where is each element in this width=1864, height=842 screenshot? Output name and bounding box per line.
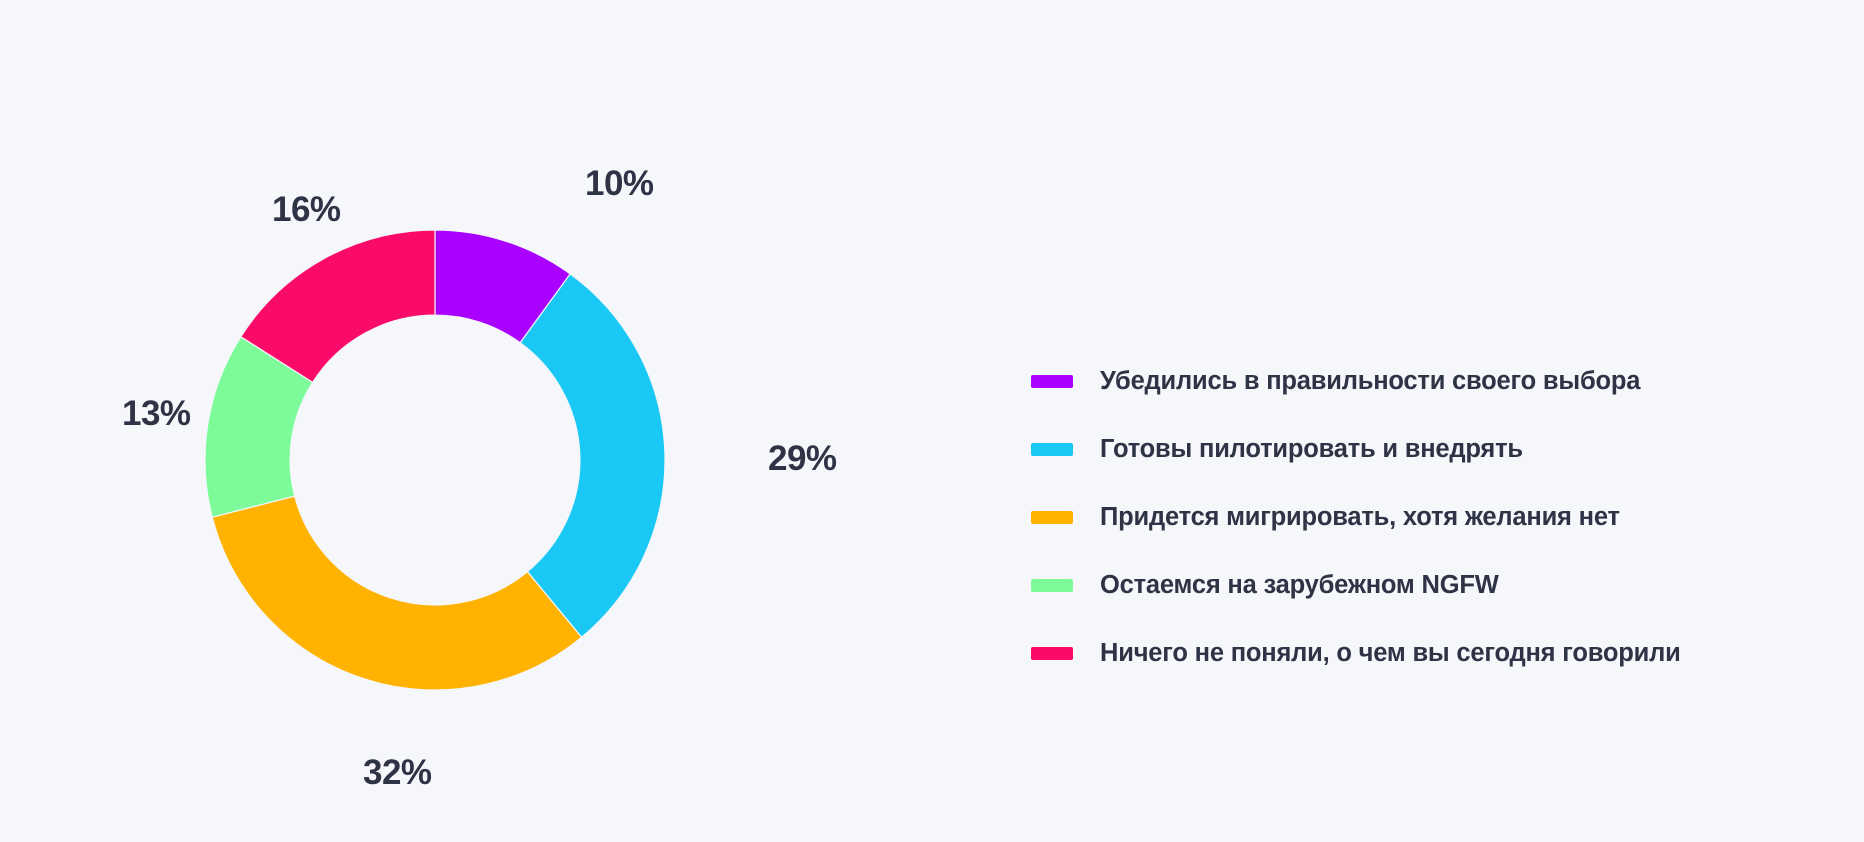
legend-item-label-4: Ничего не поняли, о чем вы сегодня говор…: [1100, 639, 1681, 668]
legend-item-0[interactable]: Убедились в правильности своего выбора: [1031, 347, 1731, 415]
legend-item-1[interactable]: Готовы пилотировать и внедрять: [1031, 415, 1731, 483]
legend-swatch-icon-2: [1031, 511, 1073, 524]
donut-slice-2[interactable]: [212, 496, 581, 690]
legend-item-label-0: Убедились в правильности своего выбора: [1100, 367, 1640, 396]
legend-swatch-icon-0: [1031, 375, 1073, 388]
legend-swatch-icon-3: [1031, 579, 1073, 592]
slice-data-label-0: 10%: [585, 166, 654, 201]
slice-data-label-2: 32%: [363, 755, 432, 790]
chart-page: 10% 29% 32% 13% 16% Убедились в правильн…: [0, 0, 1864, 842]
legend-item-3[interactable]: Остаемся на зарубежном NGFW: [1031, 551, 1731, 619]
legend-item-label-1: Готовы пилотировать и внедрять: [1100, 435, 1523, 464]
donut-chart-svg: [205, 230, 665, 690]
donut-slice-1[interactable]: [520, 274, 665, 637]
legend-item-label-2: Придется мигрировать, хотя желания нет: [1100, 503, 1620, 532]
legend-swatch-icon-1: [1031, 443, 1073, 456]
chart-legend: Убедились в правильности своего выбора Г…: [1031, 347, 1731, 687]
legend-item-label-3: Остаемся на зарубежном NGFW: [1100, 571, 1499, 600]
donut-chart: 10% 29% 32% 13% 16%: [0, 0, 900, 842]
legend-item-4[interactable]: Ничего не поняли, о чем вы сегодня говор…: [1031, 619, 1731, 687]
donut-slice-group: [205, 230, 665, 690]
slice-data-label-3: 13%: [122, 396, 191, 431]
legend-swatch-icon-4: [1031, 647, 1073, 660]
slice-data-label-4: 16%: [272, 192, 341, 227]
slice-data-label-1: 29%: [768, 441, 837, 476]
legend-item-2[interactable]: Придется мигрировать, хотя желания нет: [1031, 483, 1731, 551]
